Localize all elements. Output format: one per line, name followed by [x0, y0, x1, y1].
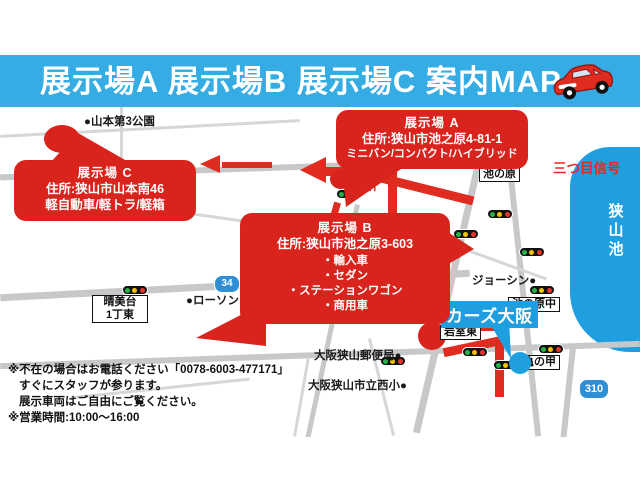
- map-flyer: 展示場A 展示場B 展示場C 案内MAP 狭山池: [0, 0, 640, 480]
- callout-c-category: 軽自動車/軽トラ/軽箱: [20, 197, 190, 213]
- road: [560, 347, 576, 437]
- intersection-label-ikenohara: 池の原: [479, 167, 520, 182]
- traffic-signal-icon: [538, 344, 564, 354]
- callout-a-category: ミニバン/コンパクト/ハイブリッド: [342, 147, 522, 162]
- callout-c-tail: [48, 133, 138, 167]
- route-arrow: [200, 155, 220, 173]
- harumidai-line1: 晴美台: [104, 296, 137, 308]
- traffic-signal-icon: [519, 247, 545, 257]
- route-shield-310: 310: [579, 379, 609, 399]
- note-line-4: ※営業時間:10:00〜16:00: [8, 410, 308, 426]
- callout-a-address: 住所:狭山市池之原4-81-1: [342, 131, 522, 147]
- callout-b-title: 展示場 B: [246, 220, 444, 236]
- notes-block: ※不在の場合はお電話ください「0078-6003-477171」 すぐにスタッフ…: [8, 362, 308, 426]
- callout-b-item: ・ステーションワゴン: [246, 284, 444, 299]
- note-line-1: ※不在の場合はお電話ください「0078-6003-477171」: [8, 362, 308, 378]
- place-label-joshin: ジョーシン●: [472, 272, 536, 288]
- callout-c-title: 展示場 C: [20, 165, 190, 181]
- route-shield-34: 34: [214, 275, 240, 293]
- harumidai-line2: 1丁東: [106, 309, 134, 321]
- traffic-signal-icon: [122, 285, 148, 295]
- callout-b-item: ・輸入車: [246, 254, 444, 269]
- traffic-signal-icon: [462, 347, 488, 357]
- callout-b-tail-left: [196, 302, 266, 348]
- intersection-label-harumidai: 晴美台 1丁東: [92, 295, 148, 323]
- callout-box-a: 展示場 A 住所:狭山市池之原4-81-1 ミニバン/コンパクト/ハイブリッド: [336, 110, 528, 169]
- callout-c-address: 住所:狭山市山本南46: [20, 181, 190, 197]
- callout-b-items: ・輸入車 ・セダン ・ステーションワゴン ・商用車: [246, 254, 444, 314]
- lake-label: 狭山池: [606, 202, 626, 259]
- callout-b-item: ・セダン: [246, 269, 444, 284]
- callout-a-title: 展示場 A: [342, 115, 522, 131]
- note-line-2: すぐにスタッフが参ります。: [8, 378, 308, 394]
- callout-box-c: 展示場 C 住所:狭山市山本南46 軽自動車/軽トラ/軽箱: [14, 160, 196, 221]
- callout-b-tail: [440, 227, 478, 273]
- callout-b-address: 住所:狭山市池之原3-603: [246, 236, 444, 252]
- route-line: [222, 162, 272, 168]
- route-arrow: [300, 157, 326, 183]
- place-label-post-office: 大阪狭山郵便局●: [314, 347, 401, 363]
- red-car-icon: [546, 60, 618, 102]
- note-line-3: 展示車両はご自由にご覧ください。: [8, 394, 308, 410]
- callout-b-item: ・商用車: [246, 299, 444, 314]
- callout-a-tail: [342, 167, 422, 209]
- traffic-signal-icon: [487, 209, 513, 219]
- callout-box-b: 展示場 B 住所:狭山市池之原3-603 ・輸入車 ・セダン ・ステーションワゴ…: [240, 213, 450, 324]
- place-label-yamamoto-park: ●山本第3公園: [84, 113, 155, 129]
- page-title: 展示場A 展示場B 展示場C 案内MAP: [40, 61, 540, 103]
- third-signal-label: 三つ目信号: [553, 157, 621, 177]
- place-label-nishi-elementary: 大阪狭山市立西小●: [308, 377, 407, 393]
- dealer-name-label: カーズ大阪: [441, 301, 538, 328]
- lake-shape: [570, 147, 640, 352]
